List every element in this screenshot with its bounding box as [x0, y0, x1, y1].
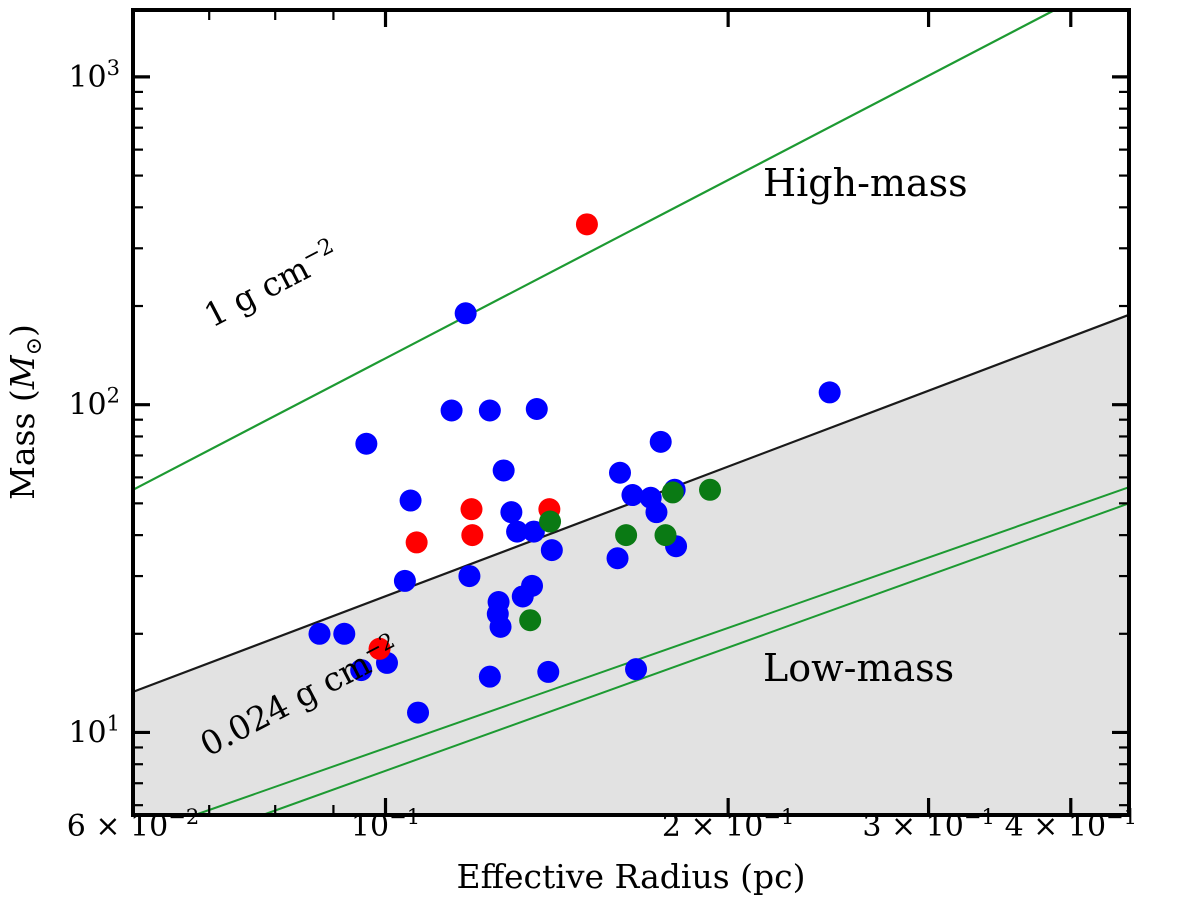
data-point-red-clumps: [576, 213, 598, 235]
data-point-blue-clumps: [479, 399, 501, 421]
data-point-blue-clumps: [650, 431, 672, 453]
data-point-blue-clumps: [645, 501, 667, 523]
data-point-blue-clumps: [609, 462, 631, 484]
data-point-blue-clumps: [455, 302, 477, 324]
x-tick-label: 4 × 10−1: [1005, 805, 1137, 844]
y-axis-title-suffix: ): [3, 324, 42, 337]
data-point-green-clumps: [615, 524, 637, 546]
y-tick-label: 102: [68, 384, 120, 423]
data-point-blue-clumps: [819, 381, 841, 403]
data-point-green-clumps: [662, 481, 684, 503]
data-point-blue-clumps: [355, 433, 377, 455]
data-point-blue-clumps: [400, 490, 422, 512]
data-point-blue-clumps: [309, 623, 331, 645]
y-tick-label: 103: [68, 56, 120, 95]
y-axis-title-symbol: M: [3, 354, 42, 390]
x-tick-label: 2 × 10−1: [662, 805, 794, 844]
data-point-blue-clumps: [458, 565, 480, 587]
data-point-blue-clumps: [333, 623, 355, 645]
data-point-blue-clumps: [500, 501, 522, 523]
data-point-blue-clumps: [537, 661, 559, 683]
data-point-green-clumps: [539, 511, 561, 533]
data-point-blue-clumps: [512, 585, 534, 607]
data-point-green-clumps: [655, 524, 677, 546]
x-tick-label: 3 × 10−1: [862, 805, 994, 844]
x-tick-label: 10−1: [351, 805, 420, 844]
y-axis-title-prefix: Mass (: [3, 389, 42, 500]
figure-page: 1 g cm−2 0.024 g cm−2 High-mass Low-mass…: [0, 0, 1200, 907]
y-axis-title: Mass (M⊙): [3, 324, 47, 500]
data-point-blue-clumps: [407, 702, 429, 724]
y-axis-title-sub: ⊙: [22, 337, 47, 355]
x-axis-title: Effective Radius (pc): [456, 857, 805, 896]
y-tick-labels: 101102103: [68, 56, 120, 751]
data-point-blue-clumps: [394, 570, 416, 592]
y-tick-label: 101: [68, 712, 120, 751]
low-mass-region-label: Low-mass: [763, 646, 954, 690]
data-point-blue-clumps: [441, 399, 463, 421]
data-point-red-clumps: [406, 531, 428, 553]
data-point-red-clumps: [461, 524, 483, 546]
data-point-green-clumps: [519, 609, 541, 631]
data-point-blue-clumps: [493, 459, 515, 481]
scatter-plot-figure: 1 g cm−2 0.024 g cm−2 High-mass Low-mass…: [0, 0, 1200, 907]
data-point-blue-clumps: [541, 539, 563, 561]
high-mass-region-label: High-mass: [763, 161, 968, 205]
data-point-blue-clumps: [490, 616, 512, 638]
x-tick-label: 6 × 10−2: [67, 805, 199, 844]
data-point-green-clumps: [699, 479, 721, 501]
data-point-blue-clumps: [607, 547, 629, 569]
svg-text:Mass (M⊙): Mass (M⊙): [3, 324, 47, 500]
data-point-blue-clumps: [526, 398, 548, 420]
data-point-blue-clumps: [625, 658, 647, 680]
data-point-blue-clumps: [479, 666, 501, 688]
data-point-red-clumps: [461, 498, 483, 520]
